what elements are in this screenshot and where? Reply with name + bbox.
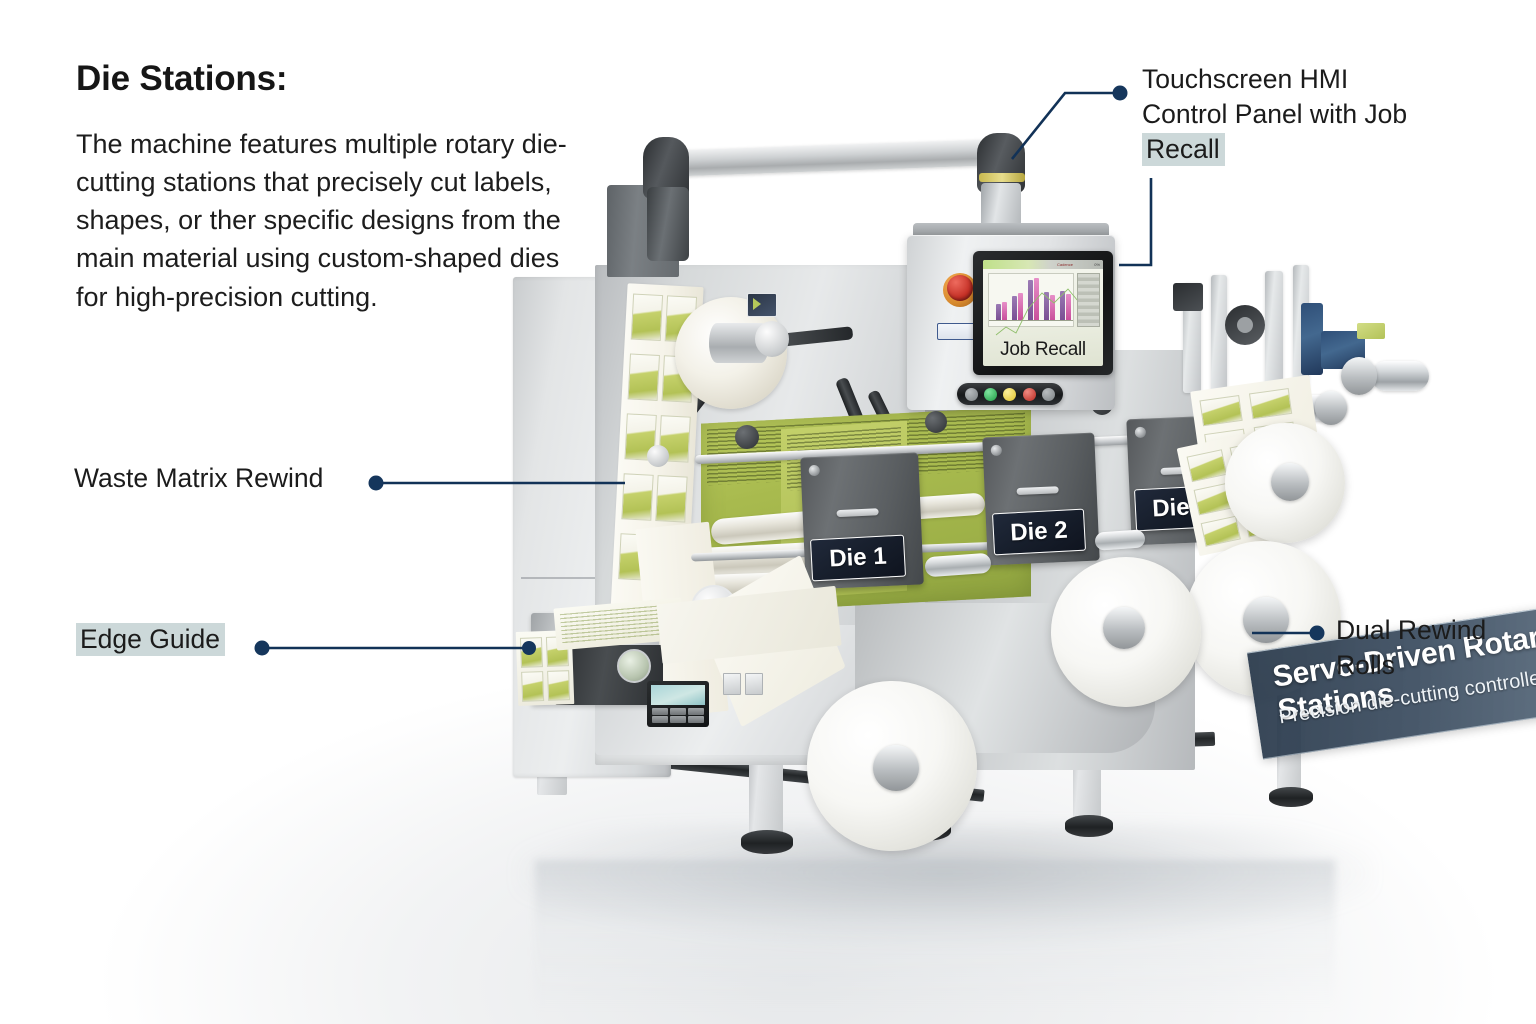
hmi-job-recall-text: Job Recall: [983, 339, 1103, 361]
die-station-nameplate-2: Die 2: [992, 509, 1086, 556]
callout-waste-matrix-rewind: Waste Matrix Rewind: [74, 461, 323, 496]
indicator-lamp-green[interactable]: [984, 388, 997, 401]
page-title: Die Stations:: [76, 60, 576, 99]
edge-guide-dial[interactable]: [617, 649, 651, 683]
rewind-post-2: [1211, 275, 1227, 393]
callout-hmi-highlight: Recall: [1142, 133, 1225, 166]
rewind-sensor-blue-1: [1301, 303, 1323, 375]
hmi-titlebar-mid-text: Cadence: [1057, 262, 1073, 267]
overhead-boom-arm: [661, 139, 1002, 177]
leader-dot-edge-guide-left: [255, 641, 270, 656]
foot-right: [1269, 787, 1313, 807]
inter-station-roller-2: [1094, 529, 1145, 550]
secondary-operator-panel[interactable]: [647, 681, 709, 727]
keypad-key-5[interactable]: [670, 716, 686, 723]
sensor-indicator-arrow-icon: [753, 298, 761, 310]
web-guide-wheel: [647, 445, 669, 467]
drive-knob-1[interactable]: [735, 425, 759, 449]
keypad-key-2[interactable]: [670, 708, 686, 715]
rewind-roller-dark-hub: [1237, 317, 1253, 333]
indicator-lamp-yellow[interactable]: [1003, 388, 1016, 401]
hmi-touchscreen-display[interactable]: Cadence 0% Job Recall: [983, 260, 1103, 366]
boom-post-left: [647, 187, 689, 261]
keypad-key-6[interactable]: [688, 716, 704, 723]
hmi-indicator-lamp-strip: [957, 383, 1063, 405]
indicator-lamp-red[interactable]: [1023, 388, 1036, 401]
unwind-roll-knob: [755, 321, 789, 357]
indicator-lamp-5[interactable]: [1042, 388, 1055, 401]
rewind-roll-lower-hub: [1243, 597, 1289, 643]
hmi-touchscreen-bezel: Cadence 0% Job Recall: [973, 251, 1113, 375]
indicator-lamp-1[interactable]: [965, 388, 978, 401]
leader-dot-hmi: [1113, 86, 1128, 101]
callout-hmi-line1: Touchscreen HMI: [1142, 62, 1472, 97]
drive-knob-2[interactable]: [925, 411, 947, 433]
die-station-label-1: Die 1: [829, 543, 888, 574]
hmi-screen-titlebar: Cadence 0%: [983, 260, 1103, 269]
switch-plate-2[interactable]: [745, 673, 763, 695]
hmi-chart-legend: [1077, 273, 1100, 327]
secondary-operator-screen[interactable]: [651, 685, 705, 705]
callout-rewind-line2: Rolls: [1336, 648, 1536, 683]
rewind-shaft-upper: [1371, 361, 1429, 391]
rewind-shaft-hub-mid: [1315, 391, 1347, 425]
hmi-titlebar-right-text: 0%: [1094, 262, 1100, 267]
die-station-nameplate-1: Die 1: [810, 535, 906, 582]
callout-touchscreen-hmi: Touchscreen HMI Control Panel with Job R…: [1142, 62, 1472, 167]
emergency-stop-button[interactable]: [947, 275, 973, 301]
callout-rewind-line1: Dual Rewind: [1336, 613, 1536, 648]
rewind-post-3: [1265, 271, 1283, 391]
callout-edge-guide: Edge Guide: [76, 622, 225, 657]
rewind-sensor-black-1: [1173, 283, 1203, 311]
switch-plate-1[interactable]: [723, 673, 741, 695]
callout-edge-highlight: Edge Guide: [76, 623, 225, 656]
hmi-chart-trendline: [994, 287, 1080, 341]
floor-reflection: [535, 860, 1335, 1010]
hmi-bar-chart: [988, 273, 1074, 327]
keypad-key-4[interactable]: [652, 716, 668, 723]
callout-dual-rewind-rolls: Dual Rewind Rolls: [1336, 613, 1536, 683]
rewind-shaft-hub-upper: [1341, 357, 1377, 395]
infographic-canvas: Die Stations: The machine features multi…: [0, 0, 1536, 1024]
secondary-operator-keypad[interactable]: [652, 708, 704, 723]
keypad-key-1[interactable]: [652, 708, 668, 715]
hmi-nameplate-tag: [937, 323, 975, 340]
foot-front-center: [741, 830, 793, 854]
callout-waste-text: Waste Matrix Rewind: [74, 463, 323, 493]
die-station-label-2: Die 2: [1010, 517, 1069, 548]
rotary-die-cutting-machine-illustration: Die 1 Die 2 Die 3: [495, 125, 1425, 905]
front-material-roll-hub: [873, 745, 919, 791]
leader-dot-waste-matrix: [369, 476, 384, 491]
rewind-sensor-green-tab: [1357, 323, 1385, 339]
boom-collar-ring: [979, 173, 1025, 182]
foot-rear-right: [1065, 815, 1113, 837]
mid-material-roll-hub: [1103, 607, 1145, 649]
keypad-key-3[interactable]: [688, 708, 704, 715]
callout-hmi-line2: Control Panel with Job: [1142, 97, 1472, 132]
sensor-display-small: [747, 293, 777, 317]
rewind-roll-upper-hub: [1271, 463, 1309, 501]
